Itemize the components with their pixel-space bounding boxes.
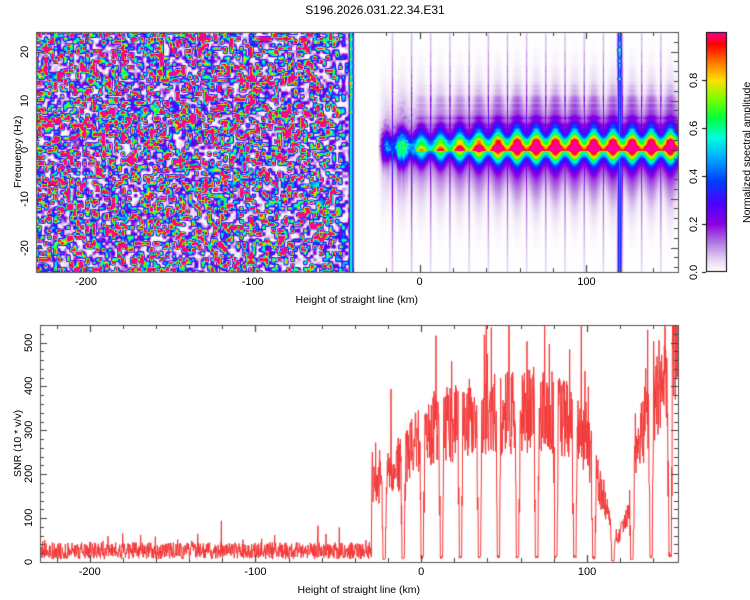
snr-xtick-3: 100 (578, 566, 596, 578)
colorbar-label: Normalized spectral amplitude (741, 81, 750, 222)
snr-ytick-0: 0 (23, 559, 35, 565)
snr-ytick-3: 300 (23, 421, 35, 439)
spectrogram-xtick-1: -100 (242, 276, 264, 288)
snr-xtick-0: -200 (79, 566, 101, 578)
colorbar-tick-1: 0.2 (688, 216, 700, 231)
colorbar-tick-4: 0.8 (688, 72, 700, 87)
snr-ytick-5: 500 (23, 333, 35, 351)
snr-xtick-2: 0 (418, 566, 424, 578)
spectrogram-ytick-2: 0 (19, 146, 31, 152)
spectrogram-xtick-2: 0 (417, 276, 423, 288)
snr-x-axis-label: Height of straight line (km) (298, 584, 421, 596)
spectrogram-ytick-3: 10 (19, 94, 31, 106)
colorbar-tick-3: 0.6 (688, 120, 700, 135)
spectrogram-xtick-3: 100 (577, 276, 595, 288)
colorbar-tick-0: 0.0 (688, 264, 700, 279)
figure-root: S196.2026.031.22.34.E31 Height of straig… (0, 0, 750, 600)
snr-ytick-1: 100 (23, 509, 35, 527)
spectrogram-ytick-4: 20 (19, 45, 31, 57)
colorbar-tick-2: 0.4 (688, 168, 700, 183)
snr-ytick-2: 200 (23, 465, 35, 483)
snr-ytick-4: 400 (23, 377, 35, 395)
snr-xtick-1: -100 (244, 566, 266, 578)
spectrogram-ytick-1: -10 (19, 191, 31, 207)
spectrogram-ytick-0: -20 (19, 240, 31, 256)
spectrogram-x-axis-label: Height of straight line (km) (296, 294, 419, 306)
page-title: S196.2026.031.22.34.E31 (0, 3, 750, 17)
spectrogram-xtick-0: -200 (75, 276, 97, 288)
